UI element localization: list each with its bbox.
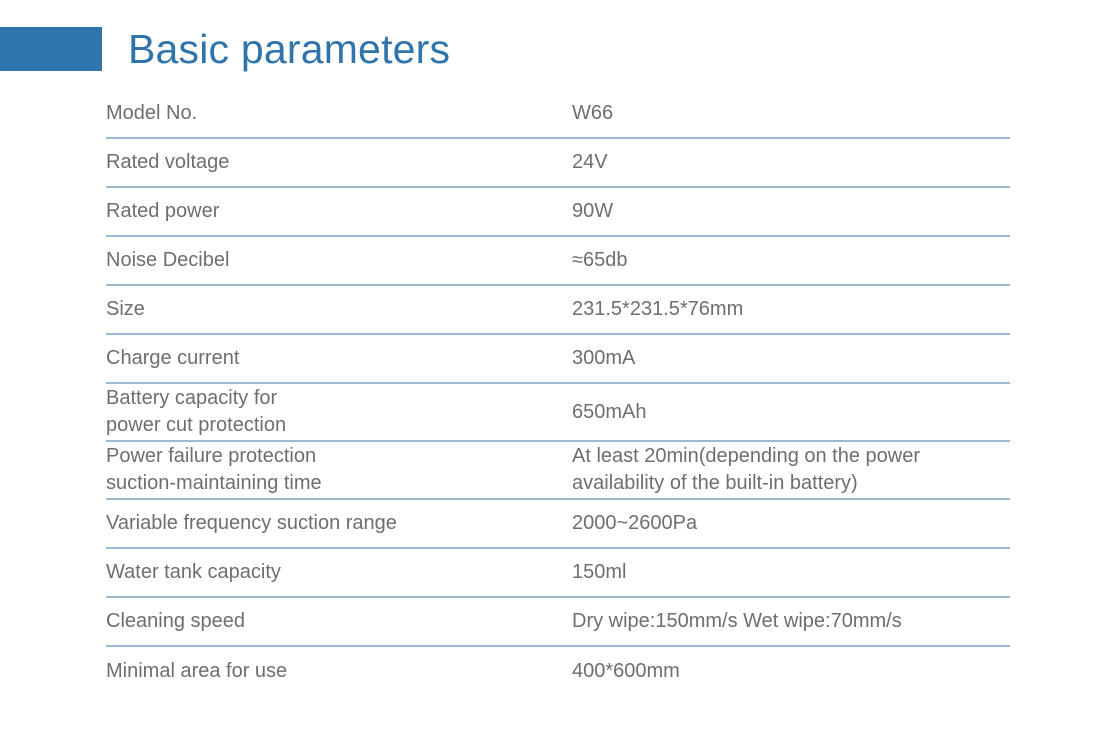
spec-label: Charge current — [106, 345, 572, 372]
table-row: Rated power 90W — [106, 188, 1010, 237]
spec-label: Size — [106, 296, 572, 323]
spec-value: ≈65db — [572, 247, 1010, 274]
table-row: Model No. W66 — [106, 90, 1010, 139]
specifications-table: Model No. W66 Rated voltage 24V Rated po… — [106, 90, 1010, 696]
spec-value: 231.5*231.5*76mm — [572, 296, 1010, 323]
spec-value: 150ml — [572, 559, 1010, 586]
spec-value: 24V — [572, 149, 1010, 176]
spec-label: Minimal area for use — [106, 658, 572, 685]
spec-value: 300mA — [572, 345, 1010, 372]
spec-label: Variable frequency suction range — [106, 510, 572, 537]
spec-label: Rated power — [106, 198, 572, 225]
table-row: Cleaning speed Dry wipe:150mm/s Wet wipe… — [106, 598, 1010, 647]
spec-value: Dry wipe:150mm/s Wet wipe:70mm/s — [572, 608, 1010, 635]
table-row: Rated voltage 24V — [106, 139, 1010, 188]
table-row: Variable frequency suction range 2000~26… — [106, 500, 1010, 549]
table-row: Size 231.5*231.5*76mm — [106, 286, 1010, 335]
spec-value: At least 20min(depending on the power av… — [572, 443, 1010, 496]
table-row: Charge current 300mA — [106, 335, 1010, 384]
header-accent-block — [0, 27, 102, 71]
table-row: Battery capacity for power cut protectio… — [106, 384, 1010, 442]
spec-label: Water tank capacity — [106, 559, 572, 586]
spec-label: Noise Decibel — [106, 247, 572, 274]
spec-value: W66 — [572, 100, 1010, 127]
spec-label: Rated voltage — [106, 149, 572, 176]
table-row: Minimal area for use 400*600mm — [106, 647, 1010, 696]
table-row: Water tank capacity 150ml — [106, 549, 1010, 598]
spec-value: 2000~2600Pa — [572, 510, 1010, 537]
spec-sheet-page: Basic parameters Model No. W66 Rated vol… — [0, 0, 1115, 746]
spec-label: Power failure protection suction-maintai… — [106, 443, 572, 496]
spec-label: Model No. — [106, 100, 572, 127]
spec-value: 400*600mm — [572, 658, 1010, 685]
spec-label: Cleaning speed — [106, 608, 572, 635]
page-header: Basic parameters — [0, 27, 1115, 71]
spec-value: 650mAh — [572, 399, 1010, 426]
table-row: Noise Decibel ≈65db — [106, 237, 1010, 286]
table-row: Power failure protection suction-maintai… — [106, 442, 1010, 500]
spec-value: 90W — [572, 198, 1010, 225]
spec-label: Battery capacity for power cut protectio… — [106, 385, 572, 438]
page-title: Basic parameters — [128, 17, 450, 81]
